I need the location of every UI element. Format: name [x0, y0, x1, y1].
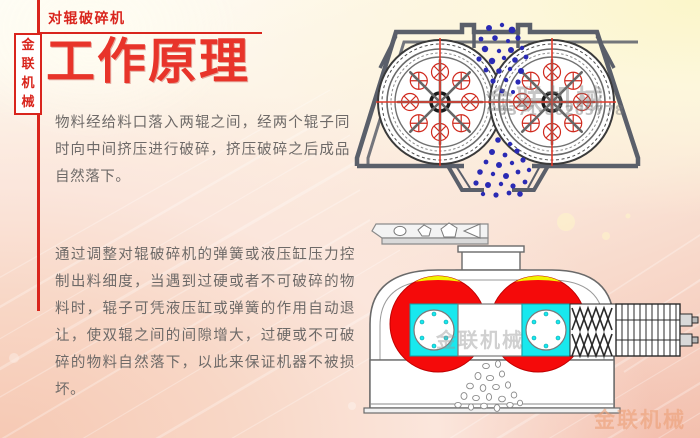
page-title: 工作原理: [46, 34, 250, 90]
crusher-cross-section-diagram: [352, 8, 700, 208]
chute-shape-circle: [394, 226, 406, 235]
left-content-column: 金 联 机 械 对辊破碎机 工作原理 物料经给料口落入两辊之间，经两个辊子同时向…: [0, 0, 360, 438]
brand-char-1: 金: [21, 36, 34, 55]
bearing-block-left: [410, 304, 458, 356]
brand-char-3: 机: [21, 74, 34, 93]
spring-assembly: [570, 304, 616, 356]
brand-char-4: 械: [21, 93, 34, 112]
bearing-block-right: [522, 304, 570, 356]
feed-chute: [372, 223, 488, 244]
tension-rod-nuts: [680, 314, 698, 346]
center-gap-plate: [458, 304, 522, 356]
paragraph-two: 通过调整对辊破碎机的弹簧或液压缸压力控制出料细度，当遇到过硬或者不可破碎的物料时…: [55, 242, 355, 404]
paragraph-one: 物料经给料口落入两辊之间，经两个辊子同时向中间挤压进行破碎，挤压破碎之后成品自然…: [55, 110, 350, 191]
brand-char-2: 联: [21, 55, 34, 74]
brand-badge: 金 联 机 械: [14, 33, 42, 115]
crusher-assembly-diagram: [352, 208, 700, 438]
eyebrow-label: 对辊破碎机: [48, 8, 126, 28]
tension-rod-frame: [616, 304, 698, 356]
